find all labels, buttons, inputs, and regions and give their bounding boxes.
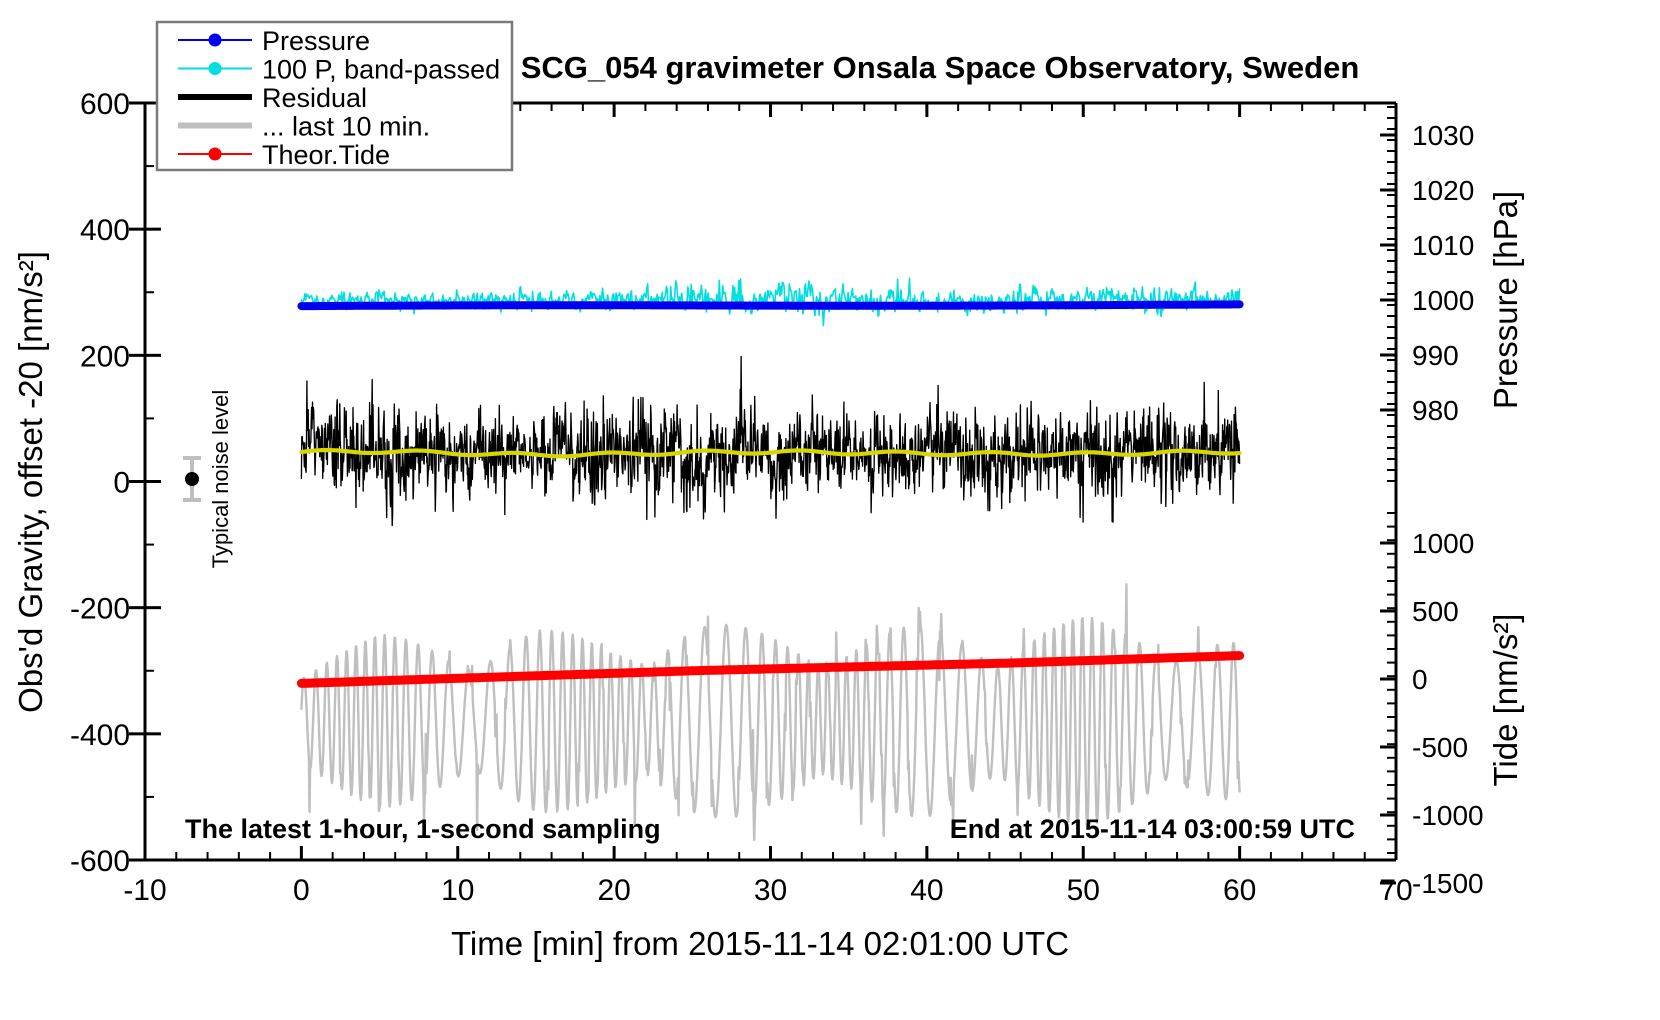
gravimeter-plot: -10010203040506070 6004002000-200-400-60… [0, 0, 1660, 1020]
legend-marker-4 [209, 148, 222, 161]
legend-label-3: ... last 10 min. [262, 112, 430, 142]
annotation-bottom-left: The latest 1-hour, 1-second sampling [185, 814, 661, 844]
x-axis-label: Time [min] from 2015-11-14 02:01:00 UTC [451, 925, 1069, 962]
y-left-axis-label: Obs'd Gravity, offset -20 [nm/s²] [12, 251, 49, 713]
legend-label-4: Theor.Tide [262, 140, 390, 170]
y-right-pressure-tick-label: 990 [1412, 340, 1459, 371]
trace-pressure [301, 304, 1239, 306]
y-right-tide-axis-label: Tide [nm/s²] [1487, 614, 1524, 787]
x-tick-label: -10 [123, 874, 166, 907]
y-right-tide-tick-label: 1000 [1412, 528, 1474, 559]
x-tick-label: 0 [293, 874, 310, 907]
y-right-tide-tick-label: 500 [1412, 596, 1459, 627]
y-right-tide-tick-label: 0 [1412, 664, 1428, 695]
legend: Pressure100 P, band-passedResidual... la… [157, 22, 512, 170]
legend-label-2: Residual [262, 83, 367, 113]
y-right-pressure-axis-label: Pressure [hPa] [1487, 191, 1524, 409]
y-right-tide-tick-label: -1000 [1412, 800, 1484, 831]
x-tick-label: 70 [1379, 874, 1412, 907]
y-right-pressure-tick-label: 1000 [1412, 285, 1474, 316]
y-right-pressure-tick-label: 1030 [1412, 120, 1474, 151]
y-left-tick-label: 400 [80, 214, 130, 247]
y-right-pressure-tick-label: 1010 [1412, 230, 1474, 261]
x-tick-label: 60 [1223, 874, 1256, 907]
y-left-tick-label: -200 [70, 593, 130, 626]
y-right-pressure-tick-label: 980 [1412, 395, 1459, 426]
y-left-tick-label: 200 [80, 340, 130, 373]
y-right-tide-tick-label: -1500 [1412, 868, 1484, 899]
x-tick-label: 10 [441, 874, 474, 907]
figure-root: -10010203040506070 6004002000-200-400-60… [0, 0, 1660, 1020]
x-tick-label: 30 [754, 874, 787, 907]
y-right-pressure-tick-label: 1020 [1412, 175, 1474, 206]
legend-label-1: 100 P, band-passed [262, 55, 500, 85]
y-left-tick-label: -600 [70, 845, 130, 878]
annotation-bottom-right: End at 2015-11-14 03:00:59 UTC [950, 814, 1355, 844]
x-tick-label: 20 [597, 874, 630, 907]
typical-noise-label: Typical noise level [208, 390, 233, 569]
y-left-tick-label: -400 [70, 719, 130, 752]
legend-marker-0 [209, 34, 222, 47]
x-tick-label: 40 [910, 874, 943, 907]
y-left-tick-label: 0 [113, 467, 130, 500]
legend-label-0: Pressure [262, 26, 370, 56]
y-left-tick-label: 600 [80, 88, 130, 121]
x-tick-label: 50 [1067, 874, 1100, 907]
y-right-tide-tick-label: -500 [1412, 732, 1468, 763]
plot-title: SCG_054 gravimeter Onsala Space Observat… [521, 50, 1360, 85]
legend-marker-1 [209, 62, 222, 75]
